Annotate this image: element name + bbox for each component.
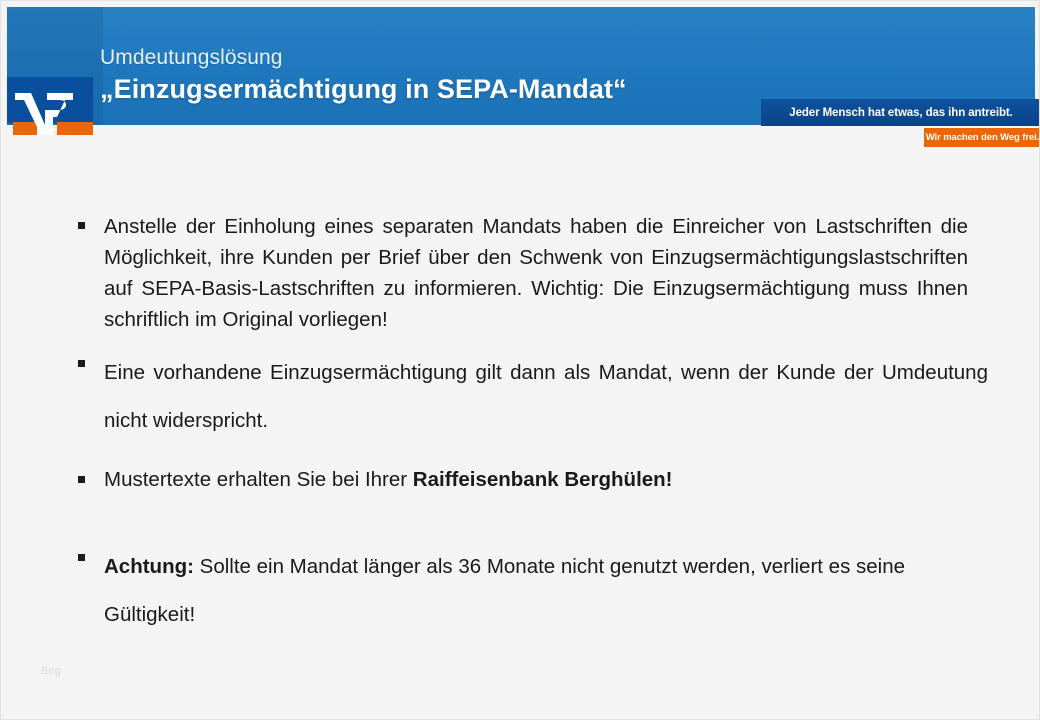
bullet-4-body: Sollte ein Mandat länger als 36 Monate n… [104, 555, 905, 626]
bullet-2-text: Eine vorhandene Einzugsermächtigung gilt… [104, 349, 988, 445]
bullet-3-text: Mustertexte erhalten Sie bei Ihrer Raiff… [104, 465, 988, 495]
footer-note: Beg [41, 665, 61, 677]
bullet-1-text: Anstelle der Einholung eines separaten M… [104, 211, 968, 335]
slide-body: Anstelle der Einholung eines separaten M… [1, 125, 1040, 720]
claim-primary-box: Jeder Mensch hat etwas, das ihn antreibt… [761, 99, 1040, 126]
header-title-block: Umdeutungslösung „Einzugsermächtigung in… [100, 45, 760, 106]
slide-canvas: Umdeutungslösung „Einzugsermächtigung in… [0, 0, 1040, 720]
list-item: Achtung: Sollte ein Mandat länger als 36… [78, 543, 988, 639]
bullet-4-text: Achtung: Sollte ein Mandat länger als 36… [104, 543, 988, 639]
header-kicker: Umdeutungslösung [100, 45, 760, 70]
list-item: Anstelle der Einholung eines separaten M… [78, 211, 968, 335]
slide-header: Umdeutungslösung „Einzugsermächtigung in… [7, 7, 1035, 125]
bullet-2-body: Eine vorhandene Einzugsermächtigung gilt… [104, 361, 988, 432]
list-item: Mustertexte erhalten Sie bei Ihrer Raiff… [78, 465, 988, 495]
bullet-4-warning-label: Achtung: [104, 555, 194, 578]
page-title: „Einzugsermächtigung in SEPA-Mandat“ [100, 72, 760, 106]
list-item: Eine vorhandene Einzugsermächtigung gilt… [78, 349, 988, 445]
bullet-1-body: Anstelle der Einholung eines separaten M… [104, 215, 968, 331]
bullet-3-lead: Mustertexte erhalten Sie bei Ihrer [104, 468, 413, 491]
square-bullet-icon [78, 465, 104, 483]
square-bullet-icon [78, 543, 104, 561]
square-bullet-icon [78, 211, 104, 229]
square-bullet-icon [78, 349, 104, 367]
claim-primary-text: Jeder Mensch hat etwas, das ihn antreibt… [789, 107, 1012, 119]
bullet-3-bank-name: Raiffeisenbank Berghülen! [413, 468, 673, 491]
